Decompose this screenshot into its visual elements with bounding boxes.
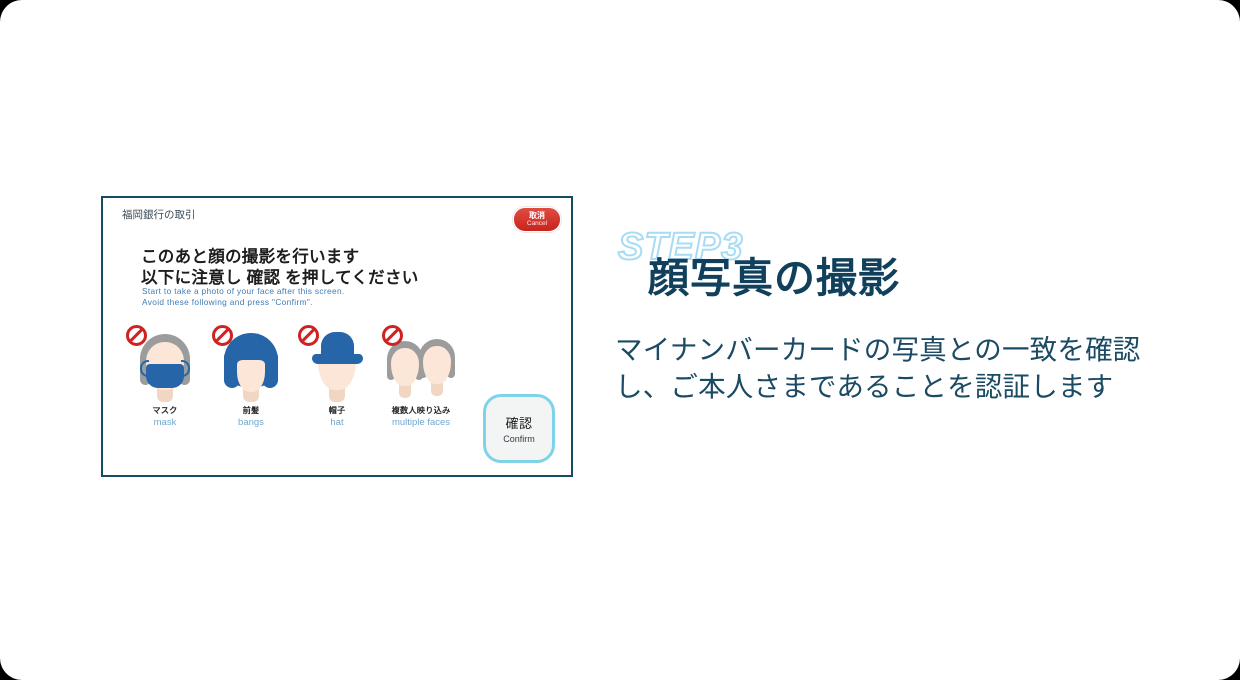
prohibition-sign-icon [298, 325, 319, 346]
no-multiple-faces-icon [375, 322, 467, 404]
warning-item-bangs: 前髪 bangs [205, 322, 297, 428]
warning-label-en: hat [291, 417, 383, 428]
warning-item-hat: 帽子 hat [291, 322, 383, 428]
no-hat-face-icon [291, 322, 383, 404]
instruction-en-line-2: Avoid these following and press "Confirm… [142, 297, 313, 307]
warning-item-mask: マスク mask [119, 322, 211, 428]
atm-header-label: 福岡銀行の取引 [122, 207, 196, 222]
prohibition-sign-icon [382, 325, 403, 346]
prohibition-sign-icon [126, 325, 147, 346]
warning-label-jp: 前髪 [205, 404, 297, 416]
warning-item-multiple-faces: 複数人映り込み multiple faces [375, 322, 467, 428]
cancel-button-label-en: Cancel [527, 221, 547, 228]
no-mask-face-icon [119, 322, 211, 404]
confirm-button-label-en: Confirm [503, 434, 535, 444]
confirm-button-label-jp: 確認 [505, 413, 532, 432]
instruction-jp-line-2: 以下に注意し 確認 を押してください [141, 264, 419, 288]
page-title: 顔写真の撮影 [648, 256, 900, 300]
confirm-button[interactable]: 確認 Confirm [483, 394, 555, 463]
warning-illustration-row: マスク mask 前髪 bangs [119, 322, 489, 442]
step-description-text: マイナンバーカードの写真との一致を確認し、ご本人さまであることを認証します [615, 332, 1160, 406]
no-bangs-face-icon [205, 322, 297, 404]
warning-label-jp: マスク [119, 404, 211, 416]
warning-label-en: multiple faces [375, 417, 467, 428]
instruction-en-line-1: Start to take a photo of your face after… [142, 286, 345, 296]
slide-page: 福岡銀行の取引 取消 Cancel このあと顔の撮影を行います 以下に注意し 確… [0, 0, 1240, 680]
warning-label-jp: 複数人映り込み [375, 404, 467, 416]
warning-label-en: mask [119, 417, 211, 428]
warning-label-jp: 帽子 [291, 404, 383, 416]
warning-label-en: bangs [205, 417, 297, 428]
cancel-button[interactable]: 取消 Cancel [513, 207, 561, 232]
cancel-button-label-jp: 取消 [529, 212, 545, 220]
prohibition-sign-icon [212, 325, 233, 346]
